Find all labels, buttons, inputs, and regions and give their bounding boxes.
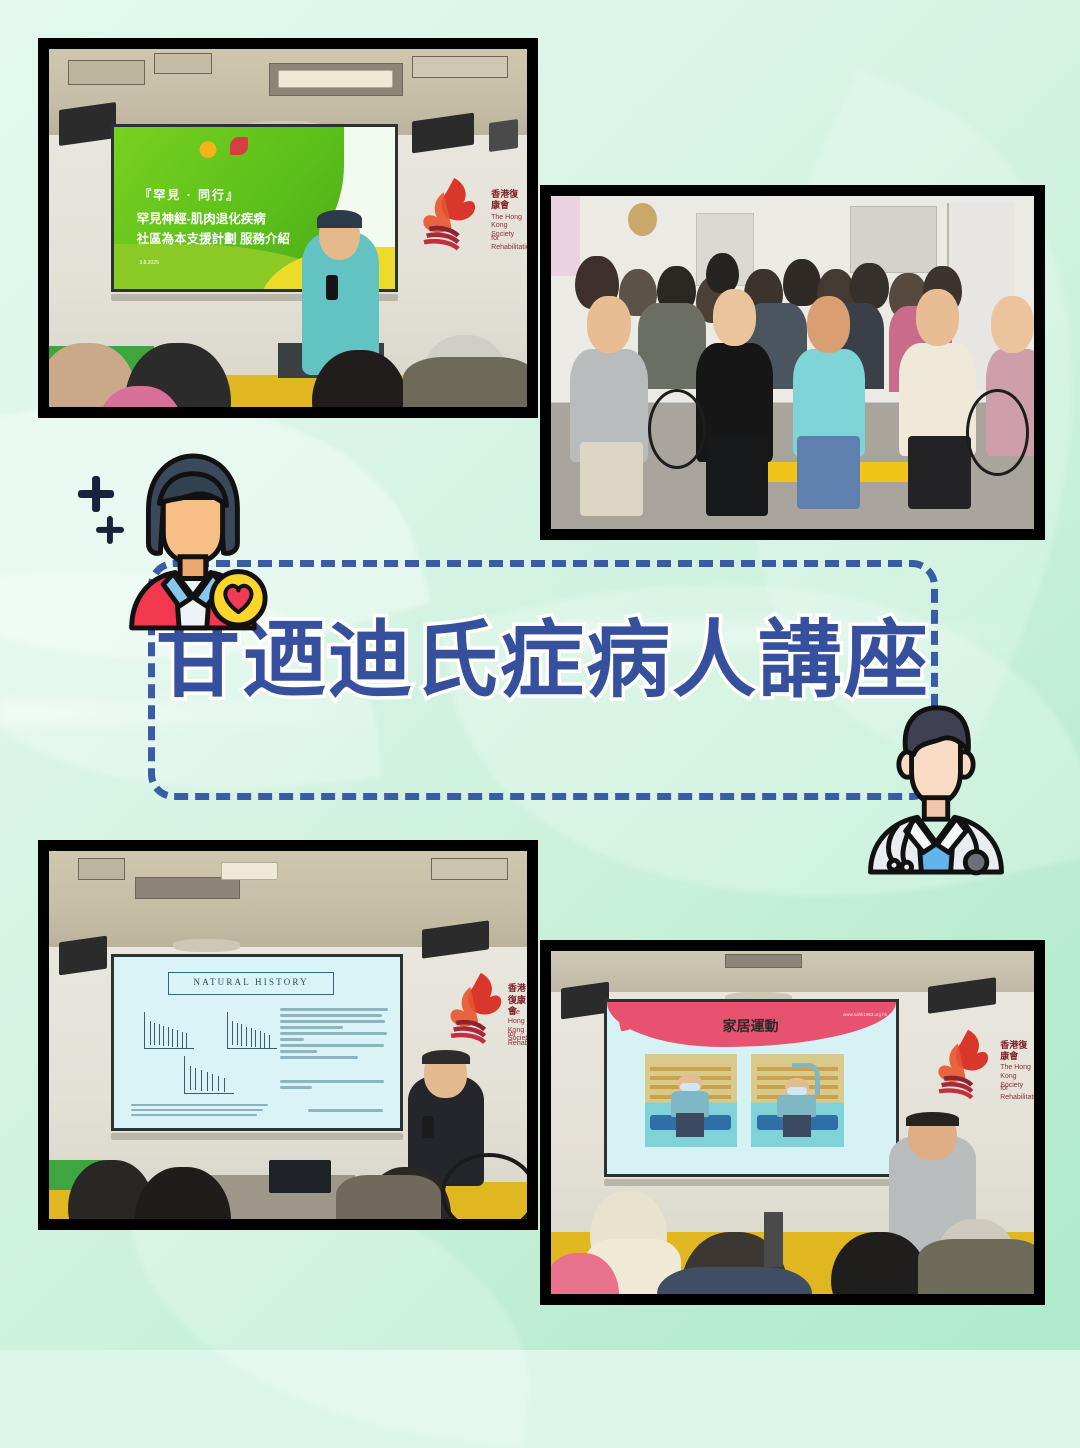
slide-figure-caption <box>131 1104 268 1119</box>
slide-line-1: 罕見神經-肌肉退化疾病 <box>137 208 266 227</box>
figure-legs <box>783 1115 811 1137</box>
slide-home-exercise: SAHK 香港耀能協會 家居運動 www.sahk1963.org.hk <box>607 1002 896 1174</box>
wheelchair-wheel <box>648 389 706 469</box>
presenter-hair <box>906 1112 959 1126</box>
wall-sign-zh: 香港復康會 <box>1000 1040 1034 1063</box>
phoenix-icon <box>928 1026 1000 1101</box>
photo-bottom-right: SAHK 香港耀能協會 家居運動 www.sahk1963.org.hk <box>540 940 1045 1305</box>
ceiling-panel <box>68 60 144 85</box>
ceiling-light <box>278 70 393 88</box>
hksr-phoenix-logo-icon <box>230 137 248 155</box>
slide-heading: 家居運動 <box>723 1016 779 1036</box>
ceiling-panel <box>412 56 508 77</box>
projection-screen: NATURAL HISTORY <box>111 954 403 1131</box>
sahk-name-zh: 香港耀能協會 <box>639 1022 672 1028</box>
phoenix-icon <box>441 969 513 1046</box>
slide-body-text <box>280 1008 389 1062</box>
participant-head <box>706 253 740 293</box>
front-participant-head <box>587 296 630 353</box>
figure-raised-arm <box>792 1063 820 1095</box>
female-nurse-avatar <box>104 448 272 628</box>
ceiling-light <box>221 862 278 880</box>
nurse-face <box>163 497 222 562</box>
projector <box>173 939 240 952</box>
slide-heading: 『罕見 · 同行』 <box>139 186 240 203</box>
face-mask-icon <box>680 1083 700 1090</box>
front-participant-legs <box>580 442 643 515</box>
microphone-icon <box>326 275 338 300</box>
rare-disease-logo-icon <box>196 134 220 158</box>
slide-line-2: 社區為本支援計劃 服務介紹 <box>137 228 290 247</box>
exercise-photo-2 <box>751 1054 843 1147</box>
ceiling-vent <box>725 954 802 968</box>
front-participant-head <box>713 289 756 346</box>
ceiling-camera <box>489 119 518 152</box>
audience-body <box>336 1175 441 1219</box>
front-participant-head <box>916 289 959 346</box>
photo-bottom-left: NATURAL HISTORY <box>38 840 538 1230</box>
microphone-icon <box>422 1116 434 1138</box>
wall-clock <box>628 203 657 236</box>
chart-b <box>220 1012 277 1050</box>
sahk-mark-icon <box>617 1011 636 1032</box>
nurse-neck <box>180 557 206 579</box>
slide-conclusion <box>280 1080 389 1092</box>
ceiling-panel <box>154 53 211 74</box>
photo-top-right <box>540 185 1045 540</box>
male-doctor-avatar <box>852 700 1020 872</box>
wheelchair-wheel <box>966 389 1029 476</box>
audience-body <box>918 1239 1034 1294</box>
wall-sign-en-2: for Rehabilitation <box>1000 1085 1034 1103</box>
stethoscope-chestpiece <box>965 851 987 873</box>
audience-body <box>403 357 527 407</box>
sahk-logo-text: SAHK 香港耀能協會 <box>639 1015 672 1028</box>
front-participant-head <box>991 296 1034 353</box>
wall-sign-zh: 香港復康會 <box>491 189 527 212</box>
laptop <box>269 1160 331 1193</box>
hksr-wall-logo <box>441 969 513 1046</box>
figure-legs <box>676 1113 704 1137</box>
screen-tray <box>604 1179 899 1186</box>
slide-heading: NATURAL HISTORY <box>168 972 334 994</box>
photo-top-left: 『罕見 · 同行』 罕見神經-肌肉退化疾病 社區為本支援計劃 服務介紹 3.8.… <box>38 38 538 418</box>
slide-citation <box>291 1109 382 1115</box>
tripod-stand <box>764 1212 783 1267</box>
front-participant-head <box>807 296 850 353</box>
slide-logos <box>196 134 248 158</box>
ceiling-panel <box>78 858 126 880</box>
hksr-wall-logo <box>412 174 488 253</box>
ceiling-panel <box>431 858 507 880</box>
wall-sign-en-2: for Rehabilitation <box>508 1031 527 1049</box>
speaker-cap <box>317 210 362 228</box>
exercise-photo-1 <box>645 1054 737 1147</box>
slide-date: 3.8.2025 <box>139 260 158 266</box>
slide-url: www.sahk1963.org.hk <box>843 1012 887 1017</box>
front-participant-legs <box>908 436 971 509</box>
ceiling-vent <box>135 877 240 899</box>
wall-poster <box>551 196 580 276</box>
doctor-neck <box>924 798 947 820</box>
phoenix-icon <box>412 174 488 253</box>
screen-tray <box>111 1133 403 1140</box>
front-participant-legs <box>706 436 769 516</box>
sahk-logo: SAHK 香港耀能協會 <box>619 1012 672 1030</box>
chart-c <box>177 1056 234 1094</box>
audience-body <box>657 1267 812 1294</box>
front-participant-legs <box>797 436 860 509</box>
slide-natural-history: NATURAL HISTORY <box>114 957 400 1128</box>
chart-a <box>137 1012 194 1050</box>
projection-screen: SAHK 香港耀能協會 家居運動 www.sahk1963.org.hk <box>604 999 899 1177</box>
presenter-hair <box>422 1050 470 1065</box>
hksr-wall-logo <box>928 1026 1000 1101</box>
wall-sign-en-2: for Rehabilitation <box>491 235 527 253</box>
figure-body <box>777 1095 816 1117</box>
